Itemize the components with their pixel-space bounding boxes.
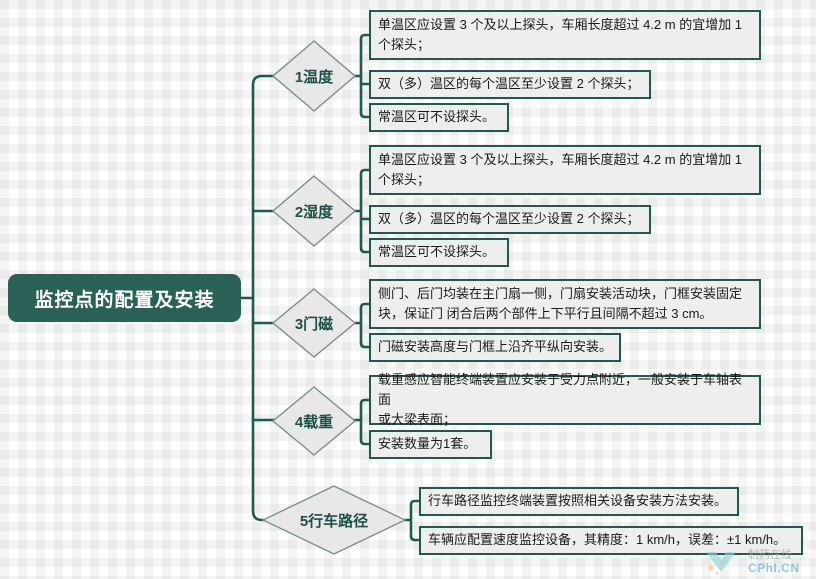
leaf-text: 门磁安装高度与门框上沿齐平纵向安装。 [378,337,612,357]
leaf-box[interactable]: 双（多）温区的每个温区至少设置 2 个探头； [369,205,651,234]
watermark: 制药在线 CPhI.CN [700,546,816,579]
b2-bracket [361,170,369,252]
root-node[interactable]: 监控点的配置及安装 [8,274,241,322]
leaf-box[interactable]: 常温区可不设探头。 [369,238,509,267]
b1-bracket [361,35,369,117]
b4-bracket [361,400,369,444]
leaf-box[interactable]: 常温区可不设探头。 [369,103,509,132]
leaf-text: 常温区可不设探头。 [378,107,495,127]
leaf-text: 侧门、后门均装在主门扇一侧，门扇安装活动块，门框安装固定 块，保证门 闭合后两个… [378,284,742,324]
leaf-box[interactable]: 侧门、后门均装在主门扇一侧，门扇安装活动块，门框安装固定 块，保证门 闭合后两个… [369,279,761,329]
leaf-box[interactable]: 单温区应设置 3 个及以上探头，车厢长度超过 4.2 m 的宜增加 1 个探头； [369,145,761,195]
branch-node-door-sensor[interactable]: 3门磁 [272,288,356,358]
leaf-box[interactable]: 双（多）温区的每个温区至少设置 2 个探头； [369,70,651,99]
branch-node-load[interactable]: 4载重 [272,386,356,456]
leaf-box[interactable]: 门磁安装高度与门框上沿齐平纵向安装。 [369,333,621,362]
branch-node-humidity[interactable]: 2湿度 [272,175,356,247]
watermark-text-cn: 制药在线 [748,546,792,562]
cphi-logo-icon [702,548,742,576]
leaf-box[interactable]: 载重感应智能终端装置应安装于受力点附近，一般安装于车轴表面 或大梁表面； [369,375,761,425]
branch-label-temperature: 1温度 [295,66,333,87]
branch-label-door-sensor: 3门磁 [295,313,333,334]
leaf-text: 双（多）温区的每个温区至少设置 2 个探头； [378,74,639,94]
root-node-label: 监控点的配置及安装 [34,285,214,312]
branch-label-humidity: 2湿度 [295,201,333,222]
b3-bracket [361,304,369,347]
leaf-text: 单温区应设置 3 个及以上探头，车厢长度超过 4.2 m 的宜增加 1 个探头； [378,15,742,55]
leaf-box[interactable]: 安装数量为1套。 [369,430,492,459]
leaf-text: 安装数量为1套。 [378,434,476,454]
leaf-text: 行车路径监控终端装置按照相关设备安装方法安装。 [428,491,727,511]
leaf-text: 常温区可不设探头。 [378,242,495,262]
leaf-text: 单温区应设置 3 个及以上探头，车厢长度超过 4.2 m 的宜增加 1 个探头； [378,150,742,190]
leaf-text: 双（多）温区的每个温区至少设置 2 个探头； [378,209,639,229]
branch-label-route: 5行车路径 [300,510,368,531]
leaf-text: 载重感应智能终端装置应安装于受力点附近，一般安装于车轴表面 或大梁表面； [378,370,752,430]
leaf-box[interactable]: 单温区应设置 3 个及以上探头，车厢长度超过 4.2 m 的宜增加 1 个探头； [369,10,761,60]
leaf-box[interactable]: 行车路径监控终端装置按照相关设备安装方法安装。 [419,487,739,516]
branch-node-temperature[interactable]: 1温度 [272,40,356,112]
watermark-text-en: CPhI.CN [748,561,800,575]
branch-node-route[interactable]: 5行车路径 [262,485,406,555]
mindmap-canvas: 监控点的配置及安装 1温度 单温区应设置 3 个及以上探头，车厢长度超过 4.2… [0,0,816,579]
branch-label-load: 4载重 [295,411,333,432]
b5-bracket [411,501,419,540]
